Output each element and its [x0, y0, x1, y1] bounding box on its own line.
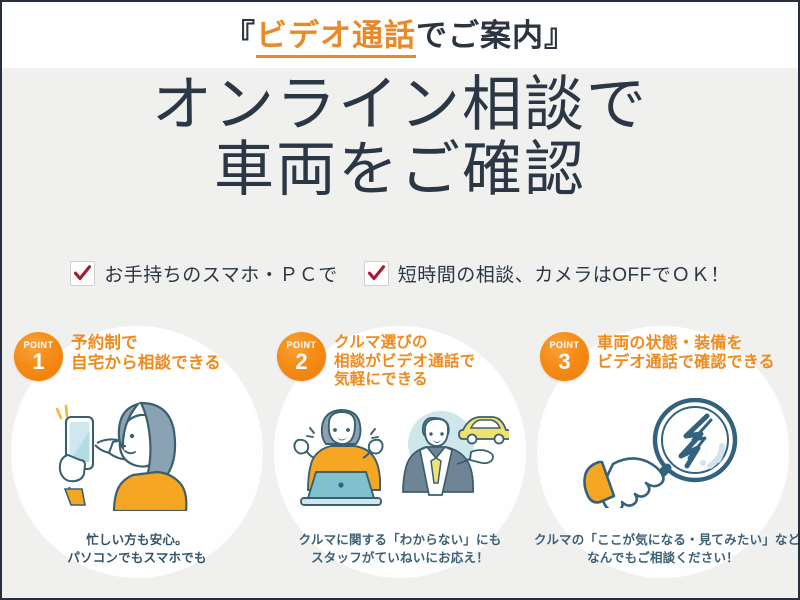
points-section: POINT 1 予約制で 自宅から相談できる [2, 318, 798, 588]
point-caption-3: クルマの「ここが気になる・見てみたい」など なんでもご相談ください！ [534, 531, 792, 569]
point-heading-3: POINT 3 車両の状態・装備を ビデオ通話で確認できる [540, 332, 775, 381]
headline-line-2: 車両をご確認 [2, 141, 798, 200]
point-badge-number: 1 [32, 351, 44, 373]
point-title-2: クルマ選びの 相談がビデオ通話で 気軽にできる [334, 332, 475, 390]
feature-check-label-2: 短時間の相談、カメラはOFFでＯＫ！ [398, 260, 730, 287]
feature-check-row: お手持ちのスマホ・ＰＣで 短時間の相談、カメラはOFFでＯＫ！ [2, 260, 798, 287]
woman-at-laptop-and-staff-with-car-illustration [271, 404, 529, 512]
point-caption-line: 忙しい方も安心。 [8, 531, 266, 550]
headline-line-1: オンライン相談で [2, 76, 798, 135]
page-title: オンライン相談で 車両をご確認 [2, 76, 798, 200]
point-caption-line: クルマに関する「わからない」にも [271, 531, 529, 550]
point-title-line: 車両の状態・装備を [597, 334, 775, 353]
online-consultation-banner: 『ビデオ通話でご案内』 オンライン相談で 車両をご確認 お手持ちのスマホ・ＰＣで… [0, 0, 800, 600]
point-heading-2: POINT 2 クルマ選びの 相談がビデオ通話で 気軽にできる [277, 332, 475, 390]
point-card-2: POINT 2 クルマ選びの 相談がビデオ通話で 気軽にできる [271, 318, 529, 580]
point-heading-1: POINT 1 予約制で 自宅から相談できる [14, 332, 221, 381]
point-badge-2: POINT 2 [277, 332, 326, 381]
banner-header: 『ビデオ通話でご案内』 [2, 2, 798, 68]
kicker-open-bracket: 『 [224, 18, 256, 53]
point-caption-2: クルマに関する「わからない」にも スタッフがていねいにお応え！ [271, 531, 529, 569]
point-title-line: 予約制で [71, 334, 221, 354]
feature-check-item-1: お手持ちのスマホ・ＰＣで [70, 260, 337, 287]
point-badge-number: 2 [295, 351, 307, 373]
kicker-highlight: ビデオ通話 [256, 18, 416, 58]
check-icon [70, 261, 95, 286]
feature-check-label-1: お手持ちのスマホ・ＰＣで [104, 260, 337, 287]
point-title-line: 相談がビデオ通話で [334, 353, 475, 372]
point-caption-line: パソコンでもスマホでも [8, 549, 266, 568]
woman-with-smartphone-illustration [8, 392, 266, 510]
point-caption-line: スタッフがていねいにお応え！ [271, 549, 529, 568]
kicker-rest: でご案内 [416, 18, 544, 53]
check-icon [364, 261, 389, 286]
point-caption-line: なんでもご相談ください！ [534, 549, 792, 568]
point-badge-3: POINT 3 [540, 332, 589, 381]
point-title-1: 予約制で 自宅から相談できる [71, 332, 221, 374]
point-title-line: クルマ選びの [334, 334, 475, 353]
point-title-3: 車両の状態・装備を ビデオ通話で確認できる [597, 332, 775, 372]
kicker-close-bracket: 』 [544, 18, 576, 53]
point-caption-1: 忙しい方も安心。 パソコンでもスマホでも [8, 531, 266, 569]
point-caption-line: クルマの「ここが気になる・見てみたい」など [534, 531, 792, 550]
point-badge-number: 3 [558, 351, 570, 373]
point-title-line: ビデオ通話で確認できる [597, 353, 775, 372]
point-title-line: 気軽にできる [334, 371, 475, 390]
hand-with-magnifying-glass-illustration [534, 398, 792, 508]
feature-check-item-2: 短時間の相談、カメラはOFFでＯＫ！ [364, 260, 730, 287]
point-badge-1: POINT 1 [14, 332, 63, 381]
kicker-text: 『ビデオ通話でご案内』 [224, 20, 576, 51]
point-card-3: POINT 3 車両の状態・装備を ビデオ通話で確認できる [534, 318, 792, 580]
point-title-line: 自宅から相談できる [71, 354, 221, 374]
point-card-1: POINT 1 予約制で 自宅から相談できる [8, 318, 266, 580]
